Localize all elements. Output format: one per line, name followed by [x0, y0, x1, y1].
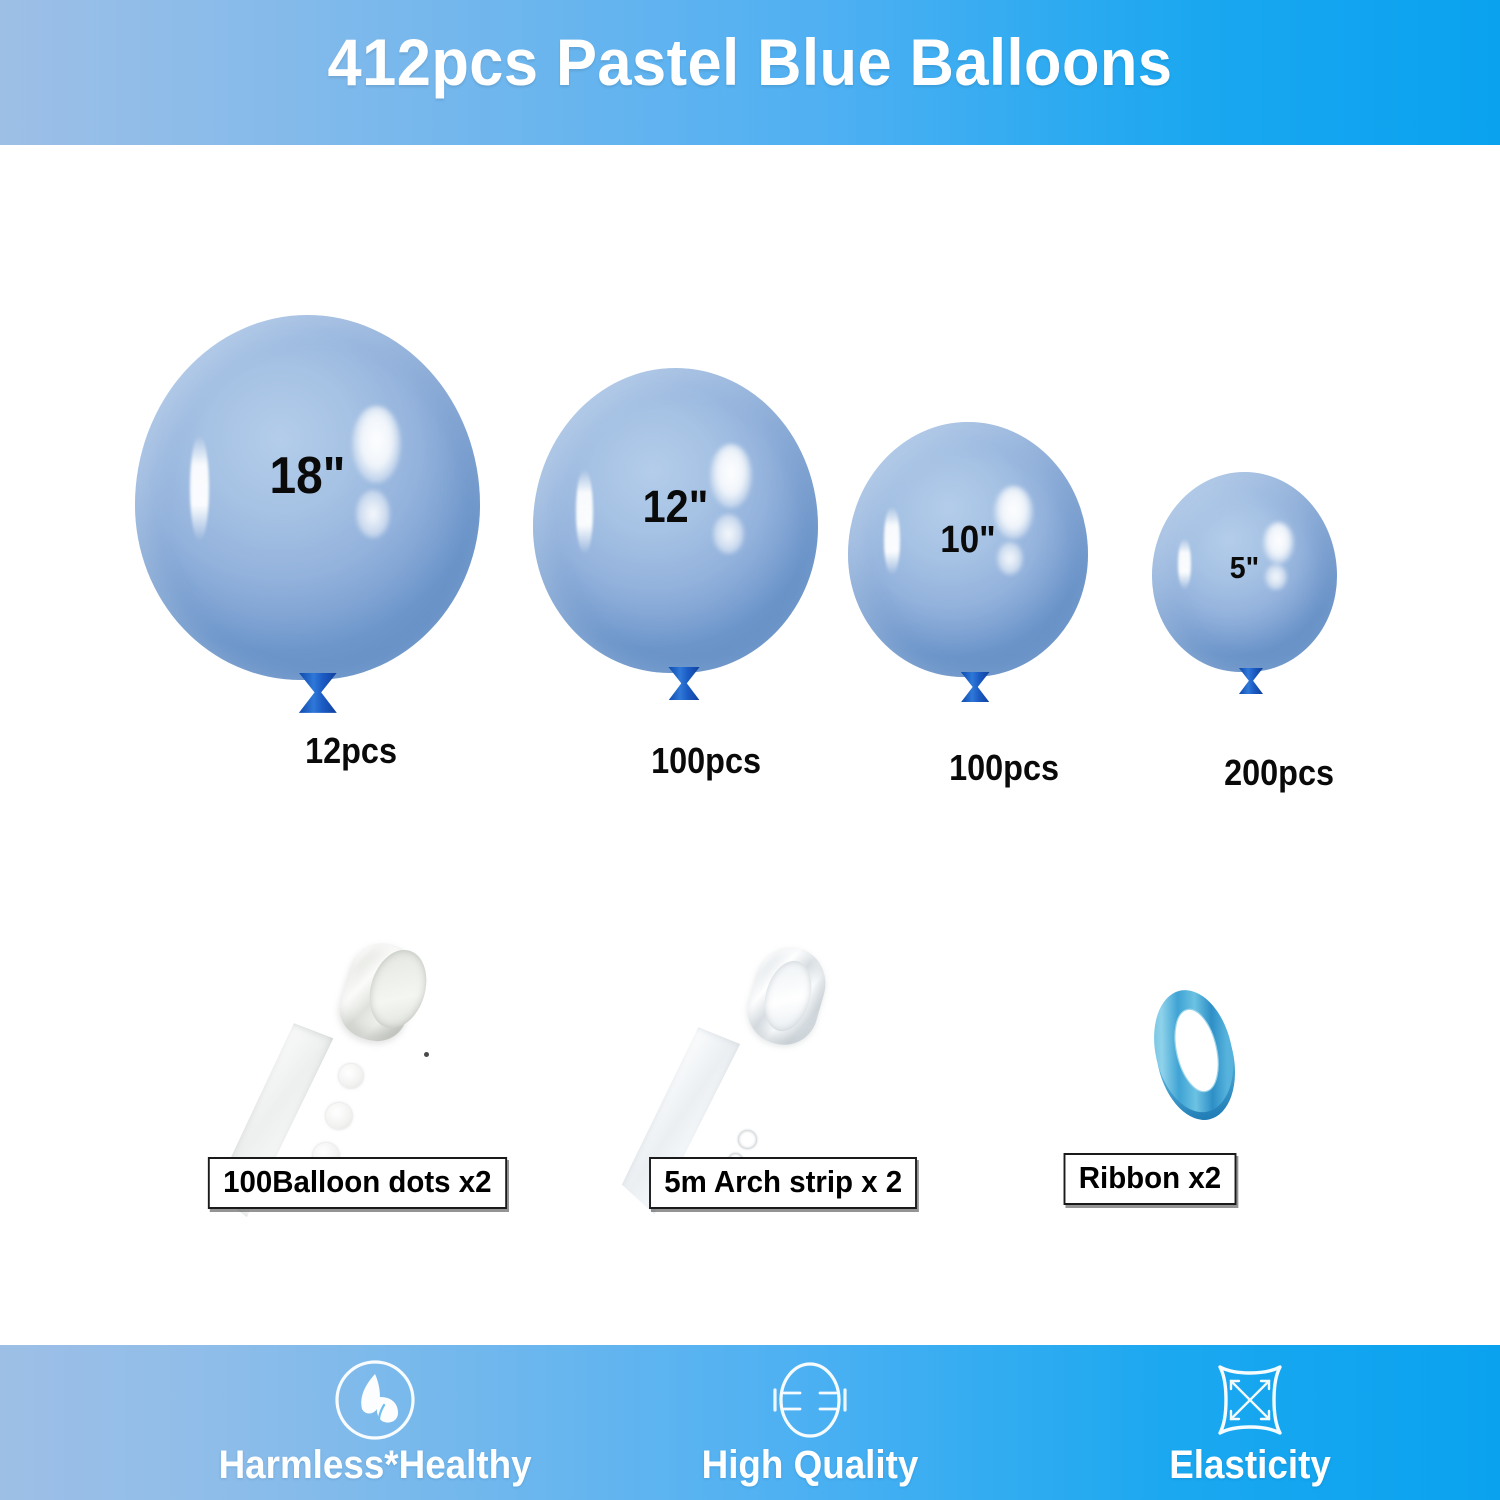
accessory-caption-ribbon: Ribbon x2 — [1064, 1153, 1237, 1205]
feature-elasticity: Elasticity — [1080, 1345, 1420, 1500]
page-title: 412pcs Pastel Blue Balloons — [53, 24, 1448, 100]
ribbon-roll — [1140, 985, 1250, 1130]
feature-harmless-healthy: Harmless*Healthy — [205, 1345, 545, 1500]
dust-speck — [424, 1052, 429, 1057]
balloon-size-label: 10" — [858, 519, 1079, 562]
balloon-18: 18" — [135, 315, 480, 680]
feature-label: Harmless*Healthy — [219, 1443, 532, 1488]
balloon-12: 12" — [533, 368, 818, 673]
balloon-count-12: 100pcs — [651, 740, 761, 782]
balloon-knot — [299, 673, 337, 713]
product-infographic: 412pcs Pastel Blue Balloons 18" 12pcs 12… — [0, 0, 1500, 1500]
ribbon-icon — [1140, 985, 1250, 1130]
balloon-size-label: 18" — [149, 446, 466, 506]
balloon-knot — [961, 672, 990, 703]
arch-strip-hole — [738, 1130, 757, 1149]
footer-banner: Harmless*Healthy High Quality — [0, 1345, 1500, 1500]
balloon-10: 10" — [848, 422, 1088, 677]
feature-label: High Quality — [654, 1443, 967, 1488]
accessory-ribbon: Ribbon x2 — [1100, 985, 1350, 1215]
accessory-balloon-dots: 100Balloon dots x2 — [285, 925, 535, 1215]
glue-dot — [326, 1103, 352, 1129]
balloon-knot — [668, 667, 699, 701]
balloon-knot — [1239, 668, 1263, 694]
feature-label: Elasticity — [1094, 1443, 1407, 1488]
balloon-count-10: 100pcs — [949, 747, 1059, 789]
stretch-balloon-icon — [767, 1357, 853, 1443]
accessory-arch-strip: 5m Arch strip x 2 — [690, 935, 940, 1215]
glue-dot — [339, 1064, 363, 1088]
balloon-5: 5" — [1152, 472, 1337, 672]
accessory-caption-dots: 100Balloon dots x2 — [208, 1157, 507, 1209]
balloon-count-18: 12pcs — [305, 730, 397, 772]
elasticity-square-icon — [1207, 1357, 1293, 1443]
header-banner: 412pcs Pastel Blue Balloons — [0, 0, 1500, 145]
balloon-size-label: 12" — [544, 481, 806, 533]
balloon-count-5: 200pcs — [1224, 752, 1334, 794]
feature-high-quality: High Quality — [640, 1345, 980, 1500]
leaf-circle-icon — [332, 1357, 418, 1443]
accessory-caption-arch: 5m Arch strip x 2 — [649, 1157, 917, 1209]
balloon-size-label: 5" — [1159, 550, 1329, 586]
